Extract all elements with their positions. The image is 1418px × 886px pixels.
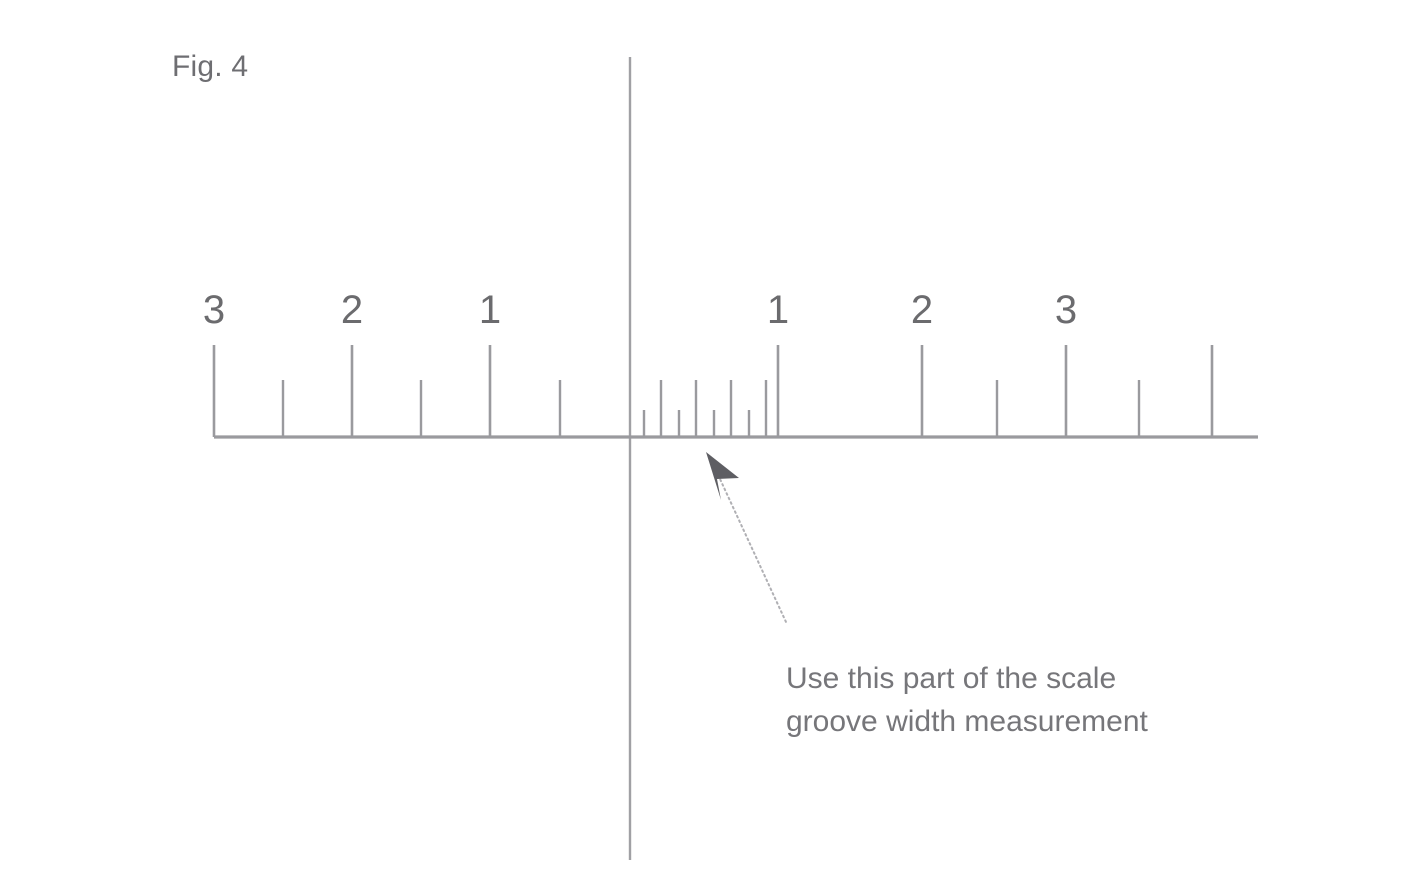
pointer-arrow-icon xyxy=(706,452,739,500)
callout-line-1: Use this part of the scale xyxy=(786,658,1148,701)
tick-group-half xyxy=(283,380,1139,437)
callout-leader-group xyxy=(706,452,786,622)
scale-number-right-1: 1 xyxy=(767,290,789,330)
leader-dotted-line xyxy=(714,466,786,622)
scale-number-right-3: 3 xyxy=(1055,290,1077,330)
callout-line-2: groove width measurement xyxy=(786,701,1148,744)
scale-number-right-2: 2 xyxy=(911,290,933,330)
figure-label: Fig. 4 xyxy=(172,50,248,84)
callout-text: Use this part of the scalegroove width m… xyxy=(786,658,1148,743)
scale-diagram xyxy=(0,0,1418,886)
scale-number-left-3: 3 xyxy=(203,290,225,330)
figure-page: Fig. 4 321123 Use this part of the scale… xyxy=(0,0,1418,886)
scale-number-left-1: 1 xyxy=(479,290,501,330)
scale-number-left-2: 2 xyxy=(341,290,363,330)
